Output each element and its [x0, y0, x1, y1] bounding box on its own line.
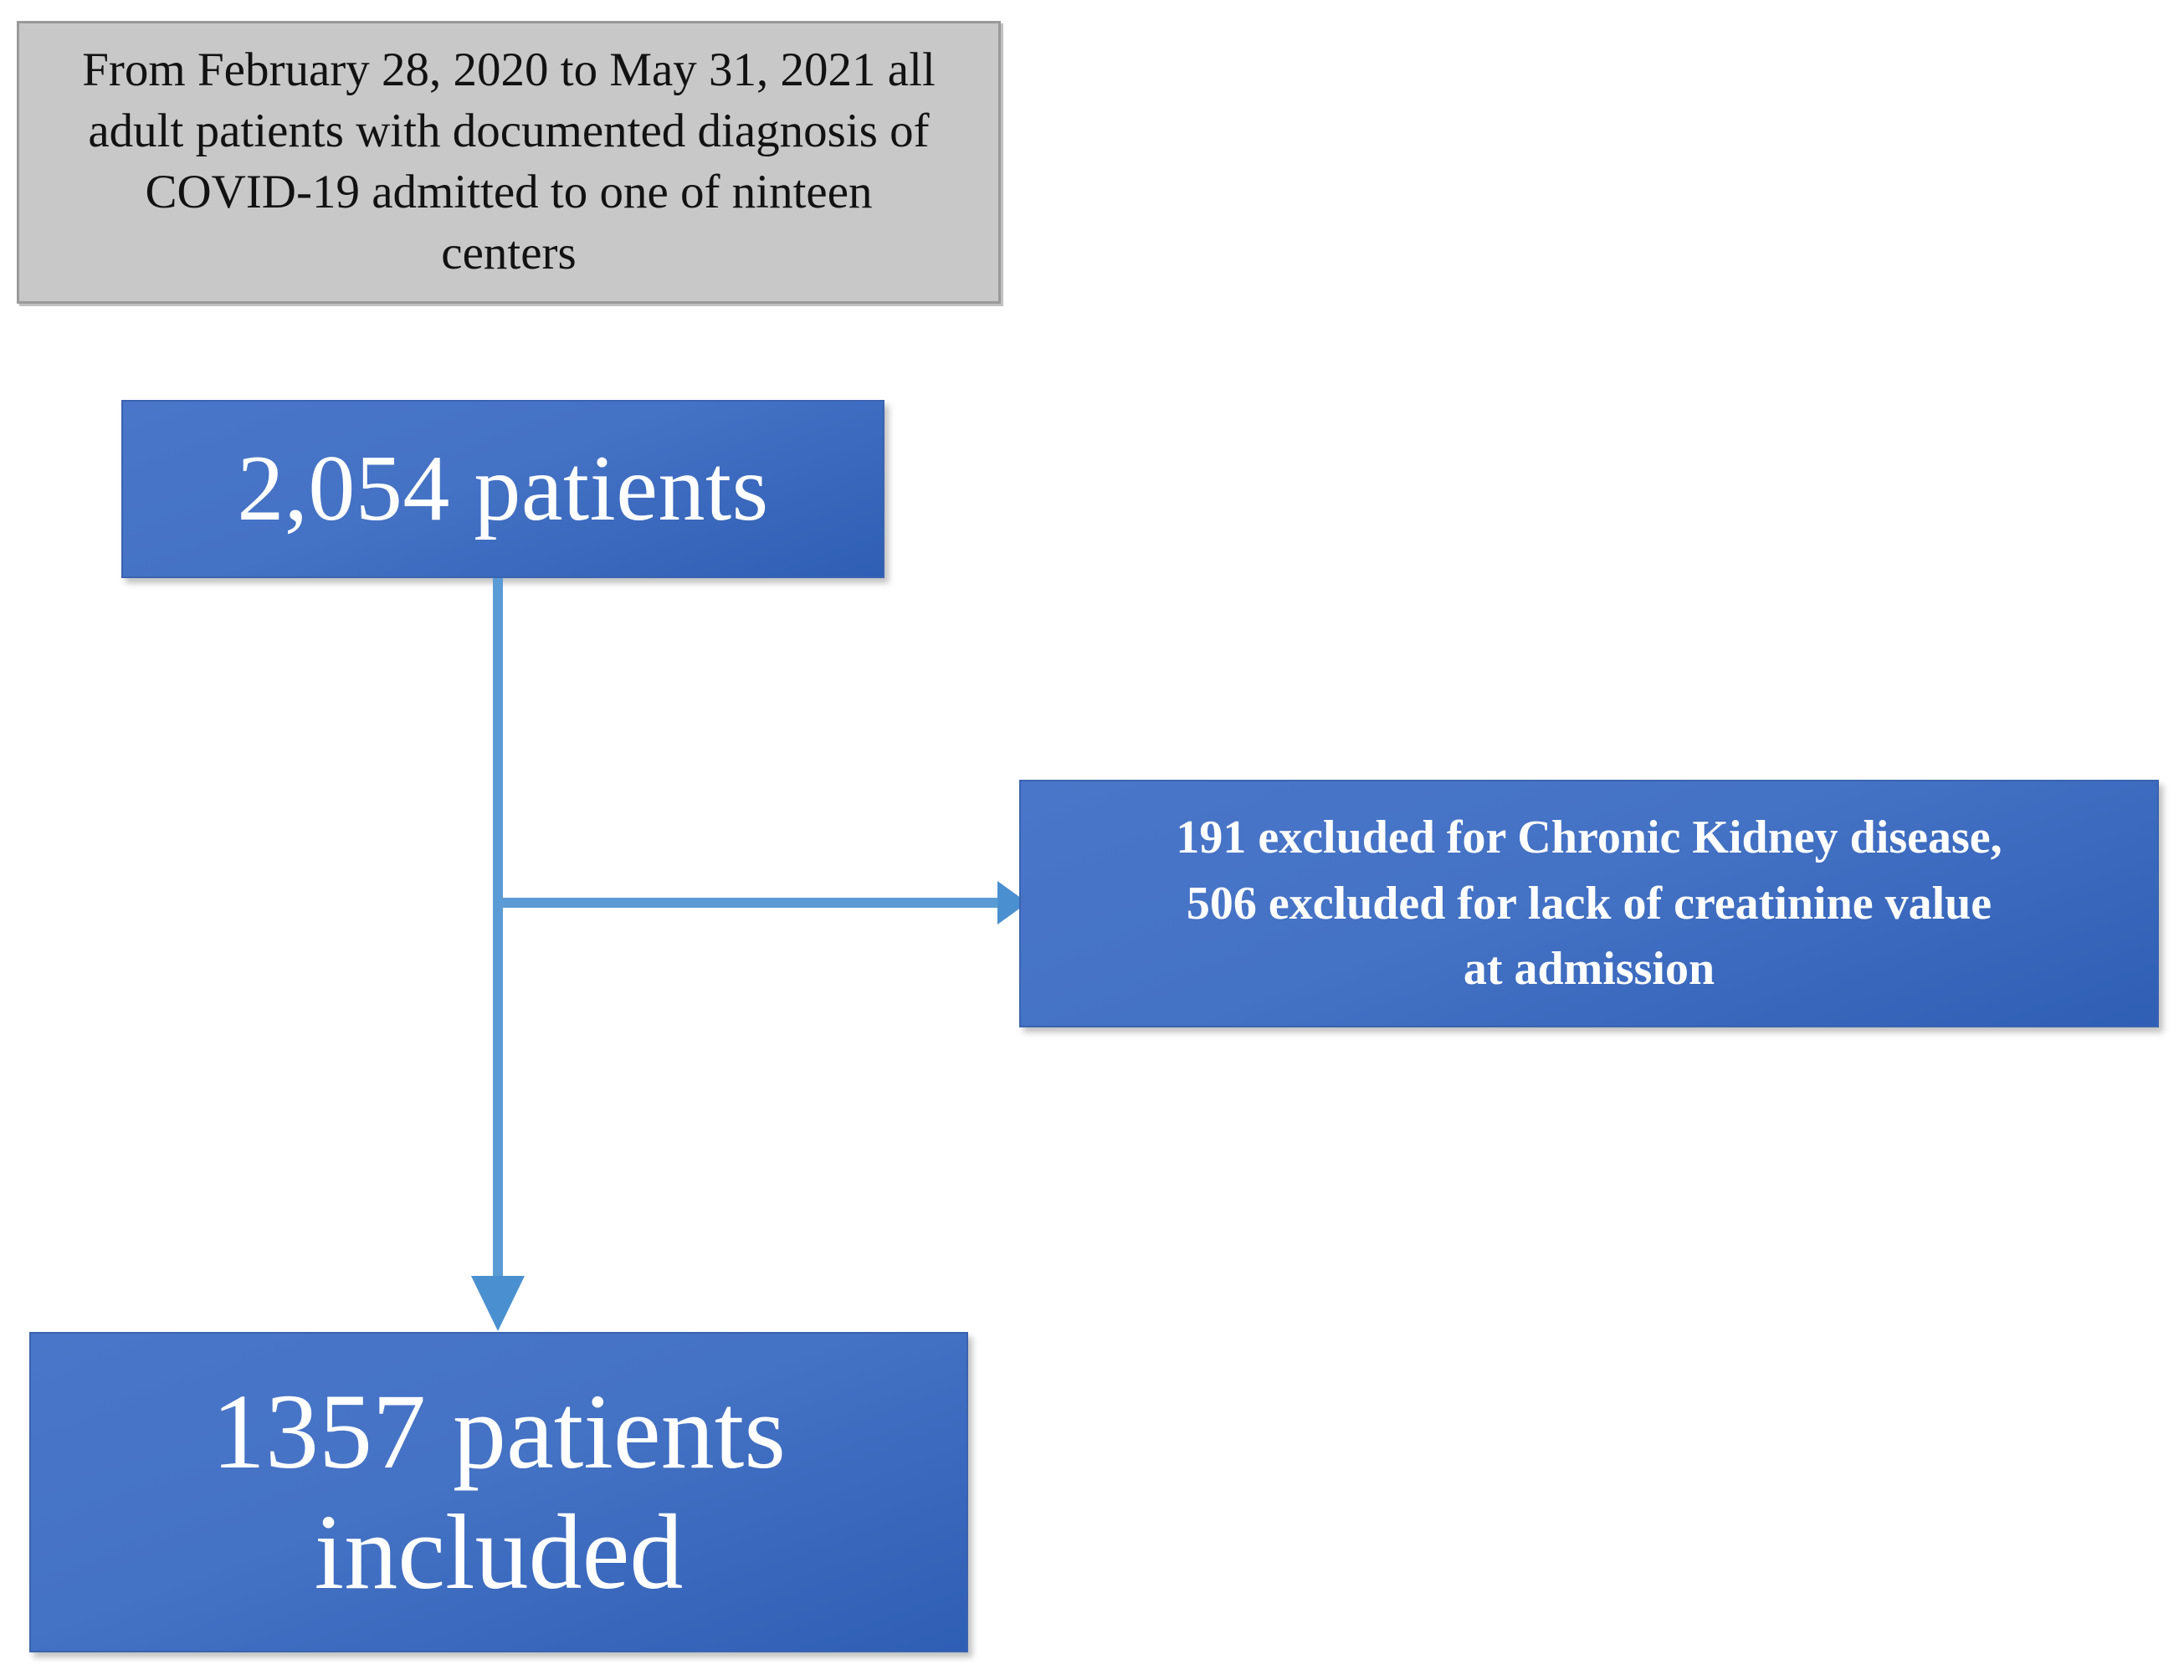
source-population-line-4: centers: [441, 227, 576, 279]
source-population-line-1: From February 28, 2020 to May 31, 2021 a…: [82, 44, 936, 96]
included-cohort-text: 1357 patientsincluded: [53, 1372, 945, 1612]
included-cohort-box: 1357 patientsincluded: [29, 1332, 968, 1652]
excluded-cohort-line-3: at admission: [1464, 943, 1715, 995]
screened-cohort-label: 2,054 patients: [141, 440, 864, 539]
flowchart-canvas: From February 28, 2020 to May 31, 2021 a…: [0, 0, 2184, 1680]
source-population-box: From February 28, 2020 to May 31, 2021 a…: [17, 21, 1001, 304]
excluded-cohort-box: 191 excluded for Chronic Kidney disease,…: [1019, 780, 2159, 1027]
arrowhead-down-icon: [471, 1276, 525, 1331]
screened-cohort-box: 2,054 patients: [121, 400, 884, 578]
connector-screened-to-included: [493, 578, 503, 1278]
source-population-line-3: COVID-19 admitted to one of ninteen: [145, 166, 872, 218]
excluded-cohort-text: 191 excluded for Chronic Kidney disease,…: [1046, 805, 2132, 1001]
connector-screened-to-excluded: [493, 898, 1028, 908]
excluded-cohort-line-1: 191 excluded for Chronic Kidney disease,: [1176, 812, 2002, 863]
source-population-line-2: adult patients with documented diagnosis…: [88, 105, 929, 157]
excluded-cohort-line-2: 506 excluded for lack of creatinine valu…: [1187, 878, 1992, 930]
included-cohort-line-1: 1357 patients: [212, 1372, 786, 1491]
source-population-text: From February 28, 2020 to May 31, 2021 a…: [41, 40, 977, 284]
included-cohort-line-2: included: [315, 1493, 684, 1611]
